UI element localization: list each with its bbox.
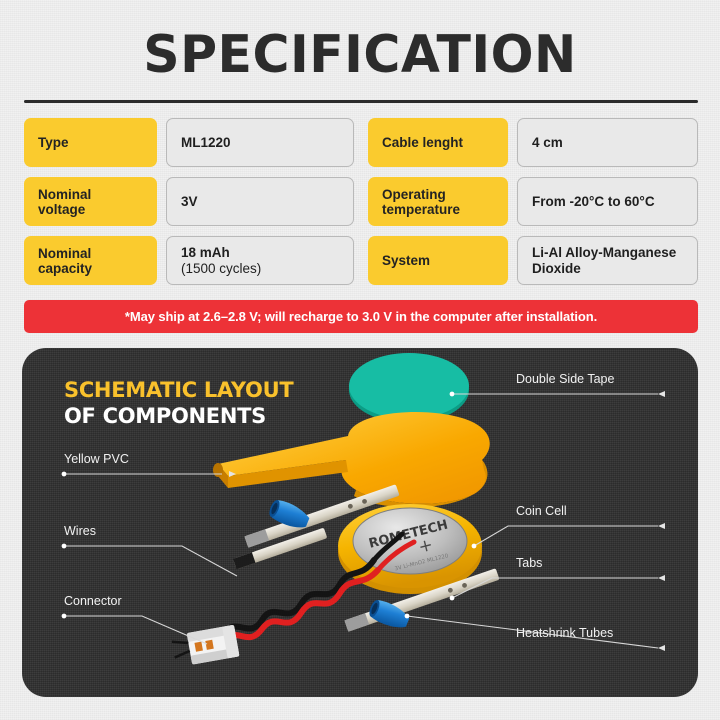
spec-key-line2: capacity	[38, 261, 92, 276]
spec-key-line2: voltage	[38, 202, 85, 217]
schematic-panel: ROMETECH + 3V Li-MnO2 ML1220	[22, 348, 698, 697]
callout-label-yellow-pvc: Yellow PVC	[64, 452, 129, 466]
callout-label-coin-cell: Coin Cell	[516, 504, 567, 518]
spec-key-line1: Operating	[382, 187, 446, 202]
title-divider	[24, 100, 698, 103]
callout-label-heatshrink-tubes: Heatshrink Tubes	[516, 626, 613, 640]
spec-row-type: Type ML1220	[24, 118, 354, 167]
spec-value-operating-temperature: From -20°C to 60°C	[517, 177, 698, 226]
spec-column-right: Cable lenght 4 cm Operating temperature …	[368, 118, 698, 285]
schematic-heading: SCHEMATIC LAYOUT OF COMPONENTS	[64, 377, 293, 429]
spec-row-operating-temperature: Operating temperature From -20°C to 60°C	[368, 177, 698, 226]
schematic-heading-line2: OF COMPONENTS	[64, 403, 293, 429]
spec-key-cable-length: Cable lenght	[368, 118, 508, 167]
specification-page: SPECIFICATION Type ML1220 Nominal voltag…	[0, 0, 720, 720]
spec-value-nominal-capacity: 18 mAh (1500 cycles)	[166, 236, 354, 285]
callout-label-wires: Wires	[64, 524, 96, 538]
shipping-voltage-note: *May ship at 2.6–2.8 V; will recharge to…	[24, 300, 698, 333]
page-title: SPECIFICATION	[11, 26, 709, 84]
spec-value-system: Li-Al Alloy-Manganese Dioxide	[517, 236, 698, 285]
schematic-heading-line1: SCHEMATIC LAYOUT	[64, 377, 293, 403]
spec-row-cable-length: Cable lenght 4 cm	[368, 118, 698, 167]
spec-key-line2: temperature	[382, 202, 460, 217]
spec-row-system: System Li-Al Alloy-Manganese Dioxide	[368, 236, 698, 285]
spec-key-type: Type	[24, 118, 157, 167]
spec-key-nominal-voltage: Nominal voltage	[24, 177, 157, 226]
spec-column-left: Type ML1220 Nominal voltage 3V Nominal c…	[24, 118, 354, 285]
spec-row-nominal-voltage: Nominal voltage 3V	[24, 177, 354, 226]
spec-key-operating-temperature: Operating temperature	[368, 177, 508, 226]
note-text: *May ship at 2.6–2.8 V; will recharge to…	[125, 309, 597, 324]
spec-value-cable-length: 4 cm	[517, 118, 698, 167]
spec-value-main: Li-Al Alloy-Manganese	[532, 245, 676, 260]
spec-key-line1: Nominal	[38, 187, 91, 202]
spec-key-line1: Nominal	[38, 246, 91, 261]
specification-table: Type ML1220 Nominal voltage 3V Nominal c…	[24, 118, 698, 285]
spec-key-system: System	[368, 236, 508, 285]
spec-key-nominal-capacity: Nominal capacity	[24, 236, 157, 285]
spec-value-type: ML1220	[166, 118, 354, 167]
spec-value-nominal-voltage: 3V	[166, 177, 354, 226]
callout-label-double-side-tape: Double Side Tape	[516, 372, 614, 386]
spec-value-sub: Dioxide	[532, 261, 581, 276]
callout-label-connector: Connector	[64, 594, 122, 608]
spec-row-nominal-capacity: Nominal capacity 18 mAh (1500 cycles)	[24, 236, 354, 285]
callout-label-tabs: Tabs	[516, 556, 542, 570]
spec-value-main: 18 mAh	[181, 245, 230, 260]
spec-value-sub: (1500 cycles)	[181, 261, 261, 277]
